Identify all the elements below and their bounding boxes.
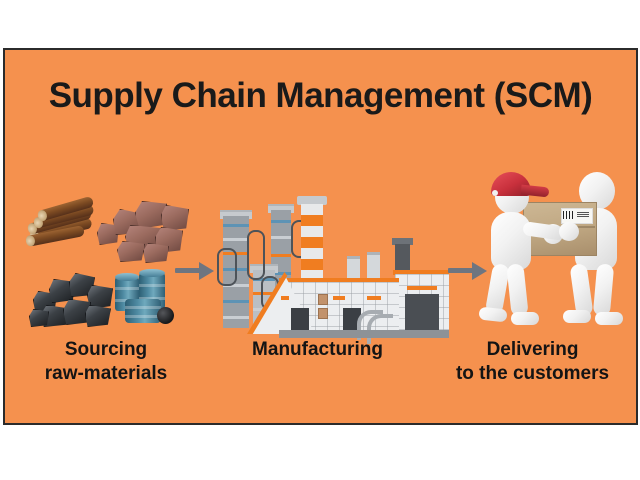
ore-rocks-icon [95,197,190,263]
sourcing-illustration [13,195,193,335]
barrel-rim [139,284,165,287]
courier-foot [511,312,539,325]
stage-label-delivering: Delivering to the customers [430,338,635,387]
tower-band [223,238,249,241]
barrel-rim [125,315,161,318]
wall-trim [367,296,381,300]
coal-pile-icon [29,269,119,329]
barrel-end-cap [157,307,174,324]
courier-leg [506,263,528,316]
rock-piece [117,241,145,262]
wall-trim [333,296,345,300]
stage-label-line-2: to the customers [430,362,635,386]
barrel-rim [115,287,139,290]
slide-canvas: Supply Chain Management (SCM) [0,0,640,480]
barcode-icon [563,211,575,219]
tower-band [271,236,291,239]
coal-piece [29,309,49,327]
stage-label-sourcing: Sourcing raw-materials [11,338,201,387]
tower-band [223,300,249,303]
wall-trim [407,286,437,290]
page-title: Supply Chain Management (SCM) [5,76,636,116]
customer-foot [563,310,591,323]
wall-trim [281,296,289,300]
cap-button [492,190,498,196]
delivering-illustration [471,166,638,338]
manufacturing-illustration [217,190,449,338]
label-text-lines [577,212,589,217]
arrow-head [199,262,214,280]
tower-band [271,220,291,223]
coal-piece [85,305,111,327]
pipe-loop [247,230,265,280]
stage-label-line-1: Sourcing [11,338,201,362]
factory-ground [279,330,449,338]
barrel-lying [125,299,161,323]
customer-leg [593,263,614,316]
tower-band [223,224,249,227]
wood-logs-icon [25,203,105,255]
stage-label-line-1: Manufacturing [210,338,425,362]
stage-label-line-2: raw-materials [11,362,201,386]
factory-window [318,294,328,305]
customer-leg [569,263,593,317]
rock-piece [161,205,189,231]
courier-body [491,212,531,270]
stage-label-line-1: Delivering [430,338,635,362]
pipe-loop [217,248,237,286]
tower-band [271,254,291,257]
barrel-lid [115,273,139,281]
tower-band [223,316,249,319]
rock-piece [143,243,169,263]
supply-chain-slide: Supply Chain Management (SCM) [3,48,638,425]
barrel-rim [125,306,161,309]
factory-window [318,308,328,319]
barrel-lid [139,269,165,277]
stage-label-manufacturing: Manufacturing [210,338,425,362]
courier-foot [478,307,507,323]
arrow-sourcing-to-manufacturing-icon [175,258,217,284]
factory-garage-door [405,294,439,334]
customer-foot [595,312,623,325]
courier-hand [559,222,579,241]
